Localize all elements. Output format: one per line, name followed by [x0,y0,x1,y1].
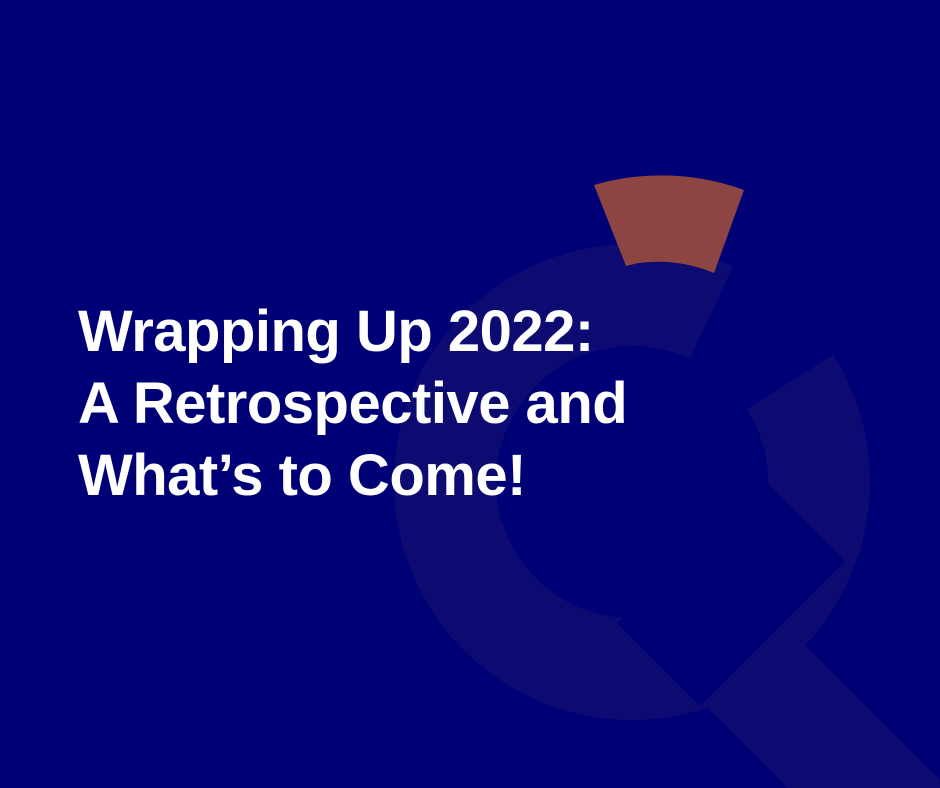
slide-canvas: Wrapping Up 2022: A Retrospective and Wh… [0,0,940,788]
q-tail-notch [617,478,845,706]
q-accent-segment [594,175,744,273]
page-title: Wrapping Up 2022: A Retrospective and Wh… [78,296,778,512]
q-tail-bar [620,540,940,788]
headline-line-2: A Retrospective and [78,368,778,440]
headline-line-3: What’s to Come! [78,440,778,512]
headline-line-1: Wrapping Up 2022: [78,296,778,368]
